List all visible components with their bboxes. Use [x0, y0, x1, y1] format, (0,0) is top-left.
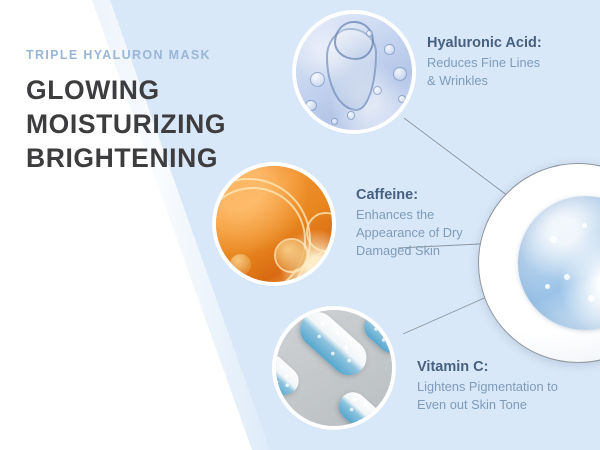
ingredient-label-vitamin-c: Vitamin C: Lightens Pigmentation to Even… [417, 358, 558, 414]
desc-line: Reduces Fine Lines [427, 54, 542, 72]
ingredient-label-caffeine: Caffeine: Enhances the Appearance of Dry… [356, 186, 463, 261]
desc-line: Even out Skin Tone [417, 396, 558, 414]
page-title: GLOWING MOISTURIZING BRIGHTENING [26, 74, 266, 176]
ingredient-image-caffeine [216, 166, 332, 282]
ingredient-image-hyaluronic-acid [296, 14, 412, 130]
ingredient-title: Vitamin C: [417, 358, 558, 376]
ingredient-label-hyaluronic-acid: Hyaluronic Acid: Reduces Fine Lines & Wr… [427, 34, 542, 90]
gel-texture [296, 14, 412, 130]
eyebrow-text: TRIPLE HYALURON MASK [26, 48, 266, 63]
headline-block: TRIPLE HYALURON MASK GLOWING MOISTURIZIN… [26, 48, 266, 176]
ingredient-title: Caffeine: [356, 186, 463, 204]
capsule-texture [276, 310, 392, 426]
gel-droplet-small [334, 21, 373, 60]
oil-texture [216, 166, 332, 282]
ingredient-image-vitamin-c [276, 310, 392, 426]
desc-line: Damaged Skin [356, 242, 463, 260]
ingredient-description: Enhances the Appearance of Dry Damaged S… [356, 206, 463, 260]
desc-line: Appearance of Dry [356, 224, 463, 242]
ingredient-title: Hyaluronic Acid: [427, 34, 542, 52]
headline-line-2: MOISTURIZING [26, 108, 266, 142]
product-jar-image [478, 163, 600, 363]
ingredient-description: Lightens Pigmentation to Even out Skin T… [417, 378, 558, 414]
headline-line-1: GLOWING [26, 74, 266, 108]
desc-line: Lightens Pigmentation to [417, 378, 558, 396]
desc-line: Enhances the [356, 206, 463, 224]
infographic-canvas: TRIPLE HYALURON MASK GLOWING MOISTURIZIN… [0, 0, 600, 450]
desc-line: & Wrinkles [427, 72, 542, 90]
ingredient-description: Reduces Fine Lines & Wrinkles [427, 54, 542, 90]
